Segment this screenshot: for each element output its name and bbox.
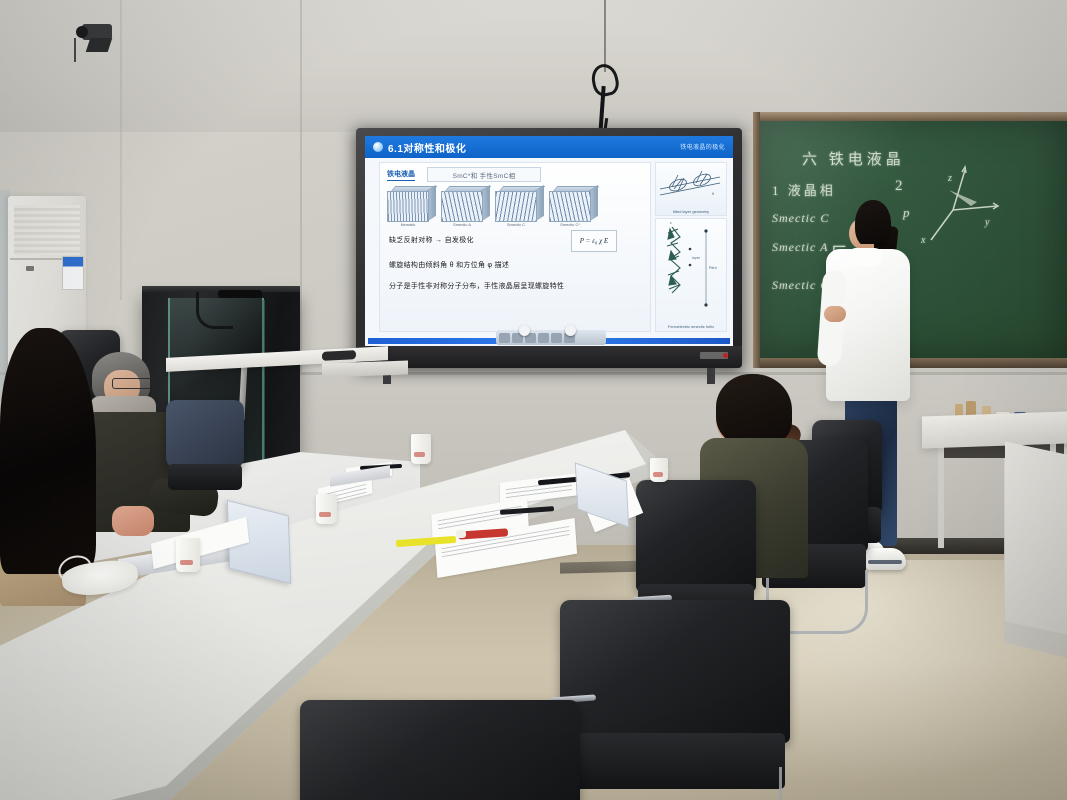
smartboard-knob-right[interactable] <box>565 325 576 336</box>
classroom-scene: 六 铁电液晶 1 液晶相 Smectic C Smectic A Smectic… <box>0 0 1067 800</box>
chalk-axis-x-label: x <box>921 235 926 246</box>
slide-figure-top-caption: tilted layer geometry <box>656 209 726 214</box>
svg-text:layer: layer <box>692 256 701 260</box>
wall-seam-vertical-2 <box>120 0 122 300</box>
crystal-cube-1-caption: Nematic <box>389 222 427 227</box>
chalk-axis-diagram <box>925 160 1005 251</box>
glasses-icon <box>112 378 154 389</box>
paper-cup-2[interactable] <box>316 494 337 524</box>
slide-bullet-2: 螺旋结构由倾斜角 θ 和方位角 φ 描述 <box>389 260 509 270</box>
chalk-note-2: p <box>903 205 911 221</box>
attendee-glasses-hand <box>112 506 154 536</box>
chalk-heading: 六 铁电液晶 <box>802 148 905 169</box>
slide-formula-box: P = ε₀ χ E <box>571 230 617 252</box>
smartboard-knob-left[interactable] <box>519 325 530 336</box>
presenter-hands <box>824 306 846 322</box>
smartboard-power-led <box>723 353 728 358</box>
smartboard-chin-bar <box>356 346 742 368</box>
slide-title-text: 6.1对称性和极化 <box>388 140 466 155</box>
slide-tag-value: SmC*和 手性SmC相 <box>453 170 516 180</box>
chalk-line-2: Smectic C <box>772 211 829 226</box>
camera-mount-arm <box>86 38 113 52</box>
chair-foreground-right[interactable] <box>560 600 790 800</box>
paper-cup-3[interactable] <box>176 538 200 572</box>
slide-bullet-icon <box>373 142 383 152</box>
crystal-cube-3-caption: Smectic C <box>497 222 535 227</box>
chalk-note-1: 2 <box>895 178 904 195</box>
paper-cup-4[interactable] <box>650 458 668 482</box>
crystal-cube-1: Nematic <box>387 186 435 220</box>
svg-text:Pitch: Pitch <box>709 266 717 270</box>
smartboard-screen[interactable]: 6.1对称性和极化 铁电液晶的极化 铁电液晶 SmC*和 手性SmC相 Nema… <box>365 136 733 346</box>
smartboard-control-panel[interactable] <box>496 330 606 345</box>
camera-lens-icon <box>76 26 88 38</box>
presenter-hair <box>855 200 891 248</box>
crystal-cube-2-caption: Smectic A <box>443 222 481 227</box>
chalk-axis-z-label: z <box>948 173 953 184</box>
blackboard-frame-bottom <box>753 358 1067 368</box>
far-right-table[interactable] <box>1005 441 1067 634</box>
chair-left-blue[interactable] <box>166 400 244 510</box>
right-desk-leg-1 <box>938 438 944 548</box>
attendee-front-hair <box>0 328 96 574</box>
smartboard-stand-right <box>707 368 715 384</box>
slide-formula-text: P = ε₀ χ E <box>580 237 608 245</box>
smartboard-volume-down-button[interactable] <box>538 333 549 343</box>
smartboard-base-shadow <box>322 360 408 377</box>
slide-title-bar: 6.1对称性和极化 铁电液晶的极化 <box>365 136 733 158</box>
slide-figure-top: θ tilted layer geometry <box>655 162 727 216</box>
crystal-cube-4-caption: Smectic C* <box>551 222 589 227</box>
server-rack-hinge <box>262 300 265 462</box>
smartboard-menu-button[interactable] <box>499 333 510 343</box>
presenter-collar <box>848 248 882 266</box>
air-conditioner-display <box>26 266 34 271</box>
slide-title-note: 铁电液晶的极化 <box>680 142 725 151</box>
slide-tag-box: SmC*和 手性SmC相 <box>427 167 541 182</box>
slide-tag-label: 铁电液晶 <box>387 169 415 181</box>
blackboard-frame-left <box>753 112 760 368</box>
slide-bullet-3: 分子是手性非对称分子分布，手性液晶层呈现螺旋特性 <box>389 282 625 292</box>
crystal-cube-4: Smectic C* <box>549 186 597 220</box>
attendee-center-hair <box>716 374 792 446</box>
camera-wire <box>74 38 76 62</box>
slide-figure-bottom-caption: Ferroelectric smectic helix <box>656 324 726 329</box>
presentation-slide: 6.1对称性和极化 铁电液晶的极化 铁电液晶 SmC*和 手性SmC相 Nema… <box>365 136 733 346</box>
wall-seam-vertical <box>300 0 302 372</box>
slide-bullet-1: 缺乏反射对称 → 自发极化 <box>389 235 474 245</box>
chalk-line-1: 1 液晶相 <box>772 180 836 199</box>
blackboard-frame-top <box>753 112 1067 121</box>
marker-red-cap <box>456 530 467 539</box>
svg-text:z: z <box>670 221 672 225</box>
chalk-line-3: Smectic A <box>772 240 828 255</box>
smartboard-volume-up-button[interactable] <box>551 333 562 343</box>
crystal-cube-3: Smectic C <box>495 186 543 220</box>
crystal-cube-2: Smectic A <box>441 186 489 220</box>
server-rack-cable-top <box>218 290 262 298</box>
microphone-cable <box>604 0 606 72</box>
slide-figure-bottom: z layer Pitch Ferroelectric smectic heli… <box>655 218 727 332</box>
chalk-axis-y-label: y <box>985 217 990 228</box>
svg-text:θ: θ <box>712 192 714 196</box>
remote-control[interactable] <box>322 350 356 361</box>
right-desk[interactable] <box>922 411 1067 448</box>
air-conditioner-grille <box>14 205 80 255</box>
paper-cup-1[interactable] <box>411 434 431 464</box>
chair-foreground-left[interactable] <box>300 700 580 800</box>
air-conditioner-label <box>62 256 84 290</box>
